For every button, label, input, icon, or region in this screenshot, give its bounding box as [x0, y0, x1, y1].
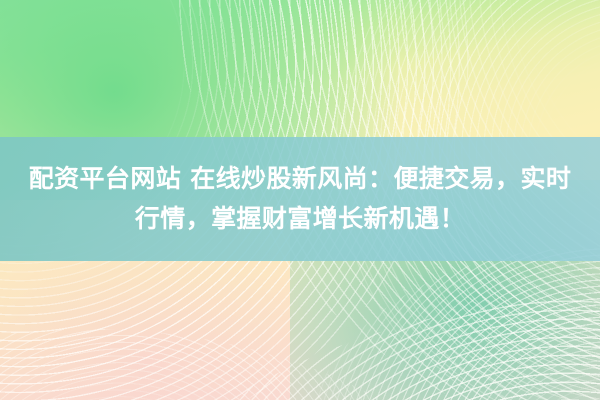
caption-band: 配资平台网站 在线炒股新风尚：便捷交易，实时行情，掌握财富增长新机遇！ — [0, 137, 600, 261]
banner-headline: 配资平台网站 在线炒股新风尚：便捷交易，实时行情，掌握财富增长新机遇！ — [20, 159, 580, 239]
promo-banner: 配资平台网站 在线炒股新风尚：便捷交易，实时行情，掌握财富增长新机遇！ — [0, 0, 600, 400]
